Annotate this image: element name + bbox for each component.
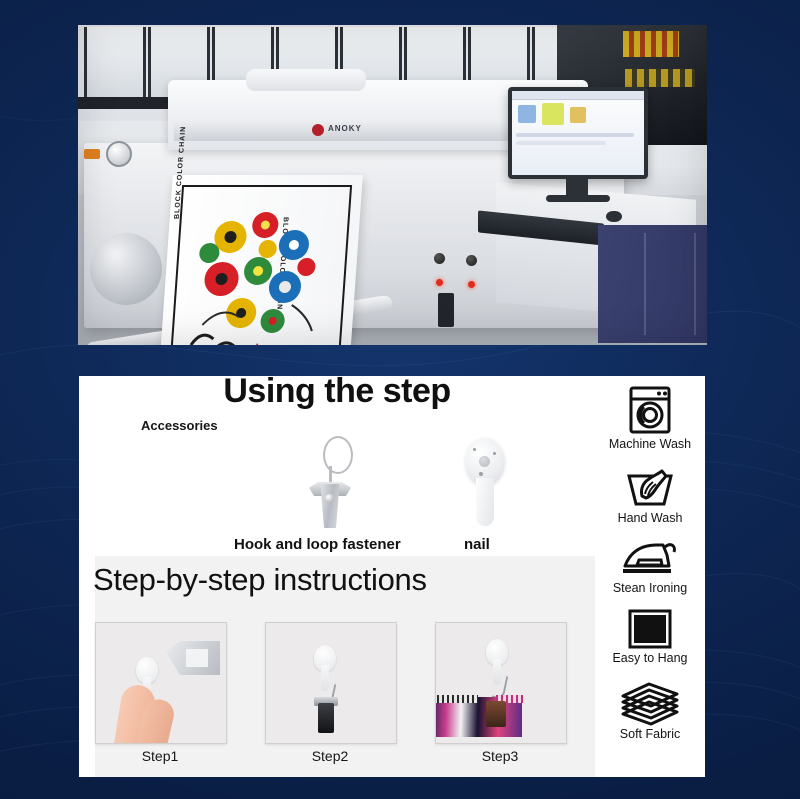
printer-keypad[interactable] bbox=[438, 293, 454, 327]
care-item-machine-wash: Machine Wash bbox=[595, 384, 705, 451]
accessory-caption-nail: nail bbox=[464, 536, 490, 553]
monitor-base bbox=[546, 195, 610, 202]
care-caption-easy-to-hang: Easy to Hang bbox=[595, 651, 705, 665]
emergency-stop-button[interactable] bbox=[84, 149, 100, 159]
accessories-label: Accessories bbox=[141, 418, 218, 433]
nail-pin-hole bbox=[493, 452, 496, 455]
brand-name: ANOKY bbox=[328, 124, 362, 133]
steps-section-title: Step-by-step instructions bbox=[93, 562, 427, 598]
soft-fabric-icon bbox=[619, 680, 681, 726]
step-3-image[interactable] bbox=[435, 622, 567, 744]
nail-illustration bbox=[457, 438, 513, 530]
care-caption-machine-wash: Machine Wash bbox=[595, 437, 705, 451]
software-thumbnail bbox=[570, 107, 586, 123]
software-toolbar bbox=[512, 91, 644, 100]
printer-carriage bbox=[246, 69, 366, 91]
machine-wash-icon bbox=[624, 384, 676, 436]
background-shelf-b bbox=[625, 69, 695, 87]
cabinet-seam bbox=[644, 233, 646, 335]
floral-artwork bbox=[159, 175, 363, 345]
care-item-soft-fabric: Soft Fabric bbox=[595, 680, 705, 741]
steam-iron-icon bbox=[621, 538, 679, 580]
step-3[interactable]: Step3 bbox=[435, 622, 565, 764]
care-caption-steam-ironing: Stean Ironing bbox=[595, 581, 705, 595]
product-detail-page: ANOKY BLOCK COLOR CHAIN BLOCK COLOR CHAI… bbox=[0, 0, 800, 799]
status-indicator-light bbox=[468, 281, 475, 288]
printed-fabric-sample: BLOCK COLOR CHAIN BLOCK COLOR CHAIN bbox=[159, 175, 363, 345]
nail-center-hole bbox=[479, 456, 490, 467]
hand-wash-icon bbox=[624, 462, 676, 510]
printer-cabinet bbox=[598, 225, 707, 343]
software-thumbnail bbox=[542, 103, 564, 125]
brand-mark-icon bbox=[312, 124, 324, 136]
care-item-hand-wash: Hand Wash bbox=[595, 462, 705, 525]
hanging-tapestry bbox=[435, 697, 522, 737]
pressure-gauge-icon bbox=[106, 141, 132, 167]
mouse[interactable] bbox=[606, 211, 622, 222]
clip-body bbox=[486, 701, 506, 727]
monitor-screen bbox=[512, 91, 644, 175]
step-2-image[interactable] bbox=[265, 622, 397, 744]
fabric-roller bbox=[90, 233, 162, 305]
nail-pin-hole bbox=[479, 472, 483, 476]
step-1[interactable]: Step1 bbox=[95, 622, 225, 764]
step-3-caption: Step3 bbox=[435, 748, 565, 764]
step-1-image[interactable] bbox=[95, 622, 227, 744]
software-panel bbox=[516, 133, 634, 137]
clip-loop bbox=[323, 436, 353, 474]
step-1-caption: Step1 bbox=[95, 748, 225, 764]
care-instruction-column: Machine Wash Hand Wash Stean I bbox=[595, 376, 705, 777]
nail-shaft bbox=[476, 478, 494, 526]
clip-pivot-pin bbox=[325, 494, 334, 503]
control-knob[interactable] bbox=[466, 255, 477, 266]
hero-photo-printer[interactable]: ANOKY BLOCK COLOR CHAIN BLOCK COLOR CHAI… bbox=[78, 25, 707, 345]
software-panel bbox=[516, 141, 606, 145]
page-title: Using the step bbox=[79, 376, 595, 411]
wall-tool-slot bbox=[186, 649, 208, 667]
background-shelf-a bbox=[623, 31, 679, 57]
status-indicator-light bbox=[436, 279, 443, 286]
software-thumbnail bbox=[518, 105, 536, 123]
easy-to-hang-icon bbox=[626, 608, 674, 650]
care-caption-soft-fabric: Soft Fabric bbox=[595, 727, 705, 741]
control-knob[interactable] bbox=[434, 253, 445, 264]
steps-row: Step1 Step2 bbox=[95, 622, 591, 767]
care-item-easy-to-hang: Easy to Hang bbox=[595, 608, 705, 665]
hook-and-loop-fastener-illustration bbox=[297, 436, 371, 532]
tapestry-top-edge bbox=[435, 695, 478, 703]
step-2-caption: Step2 bbox=[265, 748, 395, 764]
usage-instruction-panel: Using the step Accessories Hook and loop… bbox=[79, 376, 705, 777]
clip-body bbox=[318, 703, 334, 733]
care-item-steam-ironing: Stean Ironing bbox=[595, 538, 705, 595]
operator-monitor[interactable] bbox=[508, 87, 648, 179]
care-caption-hand-wash: Hand Wash bbox=[595, 511, 705, 525]
accessory-caption-fastener: Hook and loop fastener bbox=[234, 536, 401, 553]
cabinet-seam bbox=[694, 233, 696, 335]
panel-main-column: Using the step Accessories Hook and loop… bbox=[79, 376, 595, 777]
step-2[interactable]: Step2 bbox=[265, 622, 395, 764]
nail-pin-hole bbox=[473, 448, 476, 451]
printer-brand-logo: ANOKY bbox=[312, 122, 408, 138]
